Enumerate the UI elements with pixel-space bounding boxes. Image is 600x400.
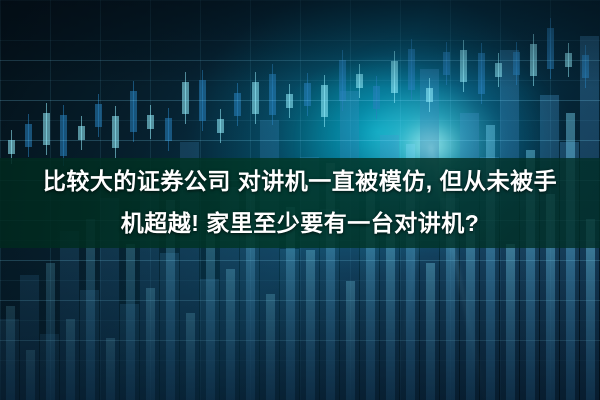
caption-line-2: 机超越! 家里至少要有一台对讲机? bbox=[121, 210, 480, 236]
image-canvas: 比较大的证券公司 对讲机一直被模仿, 但从未被手机超越! 家里至少要有一台对讲机… bbox=[0, 0, 600, 400]
caption-line-1: 比较大的证券公司 对讲机一直被模仿, 但从未被手 bbox=[43, 168, 557, 194]
caption-text: 比较大的证券公司 对讲机一直被模仿, 但从未被手机超越! 家里至少要有一台对讲机… bbox=[0, 160, 600, 244]
